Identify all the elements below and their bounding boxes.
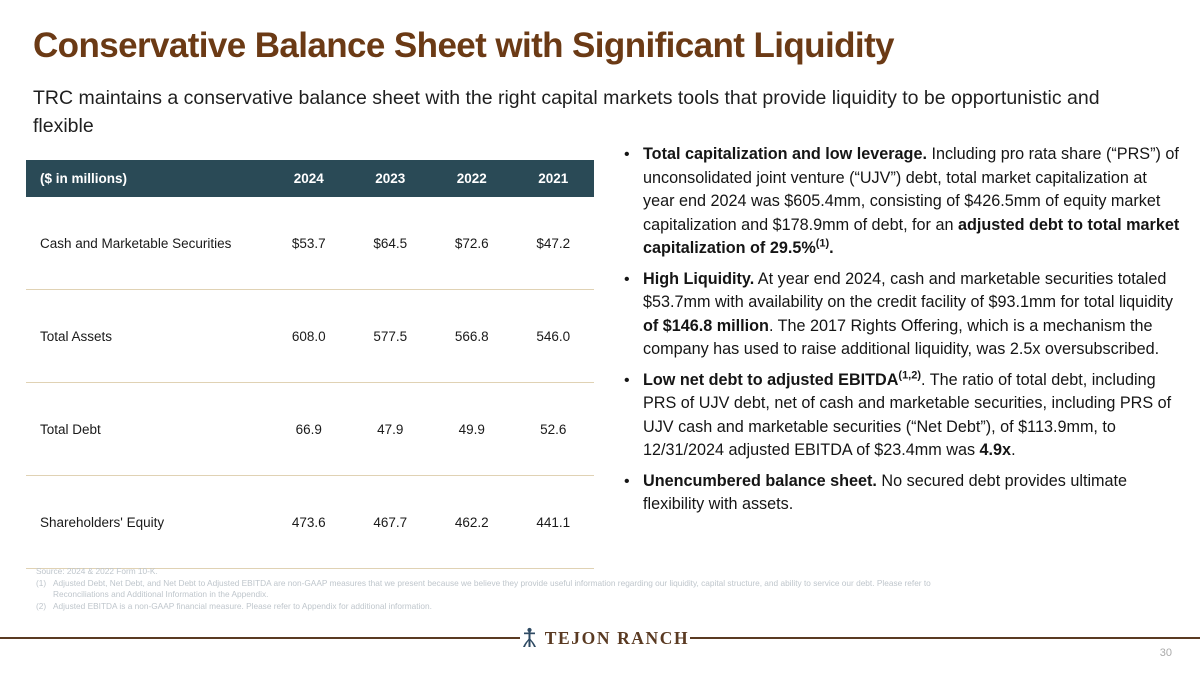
cell-total-assets-2021: 546.0 [513,290,595,383]
cell-total-assets-2022: 566.8 [431,290,513,383]
footnote-1-line1: (1)Adjusted Debt, Net Debt, and Net Debt… [36,578,1136,590]
bullet-3-body-2: . [1011,441,1016,459]
cell-total-assets-2024: 608.0 [268,290,350,383]
page-number: 30 [1160,647,1172,659]
bullet-2-lead: High Liquidity. [643,270,754,288]
column-header-label: ($ in millions) [26,160,268,197]
cell-total-debt-2024: 66.9 [268,383,350,476]
bullet-4-lead: Unencumbered balance sheet. [643,472,877,490]
table-row: Total Assets 608.0 577.5 566.8 546.0 [26,290,594,383]
bullet-1-lead: Total capitalization and low leverage. [643,145,927,163]
table-header: ($ in millions) 2024 2023 2022 2021 [26,160,594,197]
bullet-3-lead-sup: (1,2) [898,369,921,381]
cell-equity-2023: 467.7 [350,476,432,569]
column-header-2021: 2021 [513,160,595,197]
footnotes: Source: 2024 & 2022 Form 10-K. (1)Adjust… [36,566,1136,612]
footnote-2-text: Adjusted EBITDA is a non-GAAP financial … [53,601,432,611]
financial-table: ($ in millions) 2024 2023 2022 2021 Cash… [26,160,594,569]
bullet-dot-icon: • [624,369,630,393]
cell-equity-2021: 441.1 [513,476,595,569]
bullet-2-emph: of $146.8 million [643,317,769,335]
column-header-2023: 2023 [350,160,432,197]
oak-tree-icon [521,627,538,649]
row-label-total-debt: Total Debt [26,383,268,476]
page-title: Conservative Balance Sheet with Signific… [33,26,894,66]
table-row: Cash and Marketable Securities $53.7 $64… [26,197,594,290]
cell-cash-2023: $64.5 [350,197,432,290]
bullet-unencumbered: • Unencumbered balance sheet. No secured… [620,470,1180,517]
cell-total-debt-2021: 52.6 [513,383,595,476]
cell-total-debt-2023: 47.9 [350,383,432,476]
footnote-2-marker: (2) [36,601,53,613]
bullet-total-capitalization: • Total capitalization and low leverage.… [620,143,1180,261]
bullet-dot-icon: • [624,143,630,167]
cell-total-debt-2022: 49.9 [431,383,513,476]
cell-cash-2024: $53.7 [268,197,350,290]
financial-table-container: ($ in millions) 2024 2023 2022 2021 Cash… [26,160,594,569]
table-row: Shareholders' Equity 473.6 467.7 462.2 4… [26,476,594,569]
footnote-source: Source: 2024 & 2022 Form 10-K. [36,566,1136,578]
row-label-cash: Cash and Marketable Securities [26,197,268,290]
bullet-1-emph-sup: (1) [816,238,829,250]
row-label-shareholders-equity: Shareholders' Equity [26,476,268,569]
table-row: Total Debt 66.9 47.9 49.9 52.6 [26,383,594,476]
bullet-dot-icon: • [624,470,630,494]
table-header-row: ($ in millions) 2024 2023 2022 2021 [26,160,594,197]
footer-rule-right [690,637,1200,639]
bullet-list: • Total capitalization and low leverage.… [620,143,1180,524]
footer-rule-left [0,637,520,639]
footnote-1-text: Adjusted Debt, Net Debt, and Net Debt to… [53,578,931,588]
bullet-3-lead: Low net debt to adjusted EBITDA [643,371,898,389]
footnote-1-line2: Reconciliations and Additional Informati… [36,589,1136,601]
column-header-2024: 2024 [268,160,350,197]
logo-text: TEJON RANCH [545,628,689,649]
bullet-3-emph: 4.9x [980,441,1012,459]
footnote-1-marker: (1) [36,578,53,590]
slide: Conservative Balance Sheet with Signific… [0,0,1200,675]
footnote-2-line1: (2)Adjusted EBITDA is a non-GAAP financi… [36,601,1136,613]
cell-equity-2024: 473.6 [268,476,350,569]
page-subtitle: TRC maintains a conservative balance she… [33,84,1103,140]
bullet-1-body-2: . [829,239,834,257]
row-label-total-assets: Total Assets [26,290,268,383]
bullet-high-liquidity: • High Liquidity. At year end 2024, cash… [620,268,1180,362]
table-body: Cash and Marketable Securities $53.7 $64… [26,197,594,569]
cell-equity-2022: 462.2 [431,476,513,569]
tejon-ranch-logo: TEJON RANCH [520,625,690,651]
cell-cash-2022: $72.6 [431,197,513,290]
bullet-low-net-debt: • Low net debt to adjusted EBITDA(1,2). … [620,369,1180,463]
cell-cash-2021: $47.2 [513,197,595,290]
cell-total-assets-2023: 577.5 [350,290,432,383]
column-header-2022: 2022 [431,160,513,197]
bullet-dot-icon: • [624,268,630,292]
